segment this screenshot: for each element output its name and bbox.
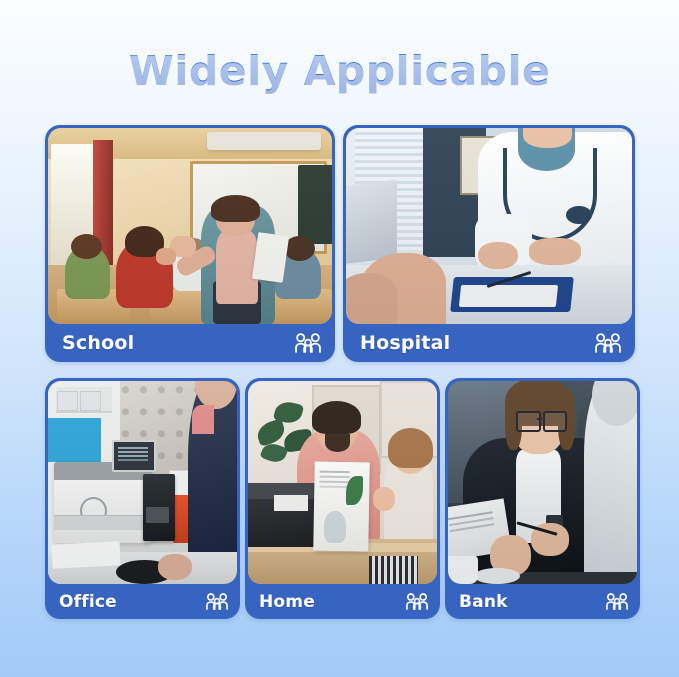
home-label-bar: Home [245, 584, 440, 619]
hospital-label: Hospital [360, 332, 450, 354]
school-photo [48, 128, 332, 324]
use-case-card-bank[interactable]: Bank [445, 378, 640, 619]
bank-label-bar: Bank [445, 584, 640, 619]
office-label-bar: Office [45, 584, 240, 619]
people-group-icon [295, 332, 321, 354]
school-label-bar: School [45, 324, 335, 362]
bank-photo [448, 381, 637, 584]
office-photo [48, 381, 237, 584]
bank-label: Bank [459, 592, 508, 612]
use-case-card-home[interactable]: Home [245, 378, 440, 619]
use-case-card-hospital[interactable]: Hospital [343, 125, 635, 362]
people-group-icon [595, 332, 621, 354]
page-title: Widely Applicable [0, 47, 679, 95]
use-case-card-office[interactable]: Office [45, 378, 240, 619]
home-photo [248, 381, 437, 584]
school-label: School [62, 332, 134, 354]
office-label: Office [59, 592, 117, 612]
home-label: Home [259, 592, 315, 612]
use-case-card-school[interactable]: School [45, 125, 335, 362]
hospital-photo [346, 128, 632, 324]
people-group-icon [606, 592, 628, 611]
widely-applicable-banner: Widely Applicable School [0, 0, 679, 677]
hospital-label-bar: Hospital [343, 324, 635, 362]
people-group-icon [206, 592, 228, 611]
people-group-icon [406, 592, 428, 611]
